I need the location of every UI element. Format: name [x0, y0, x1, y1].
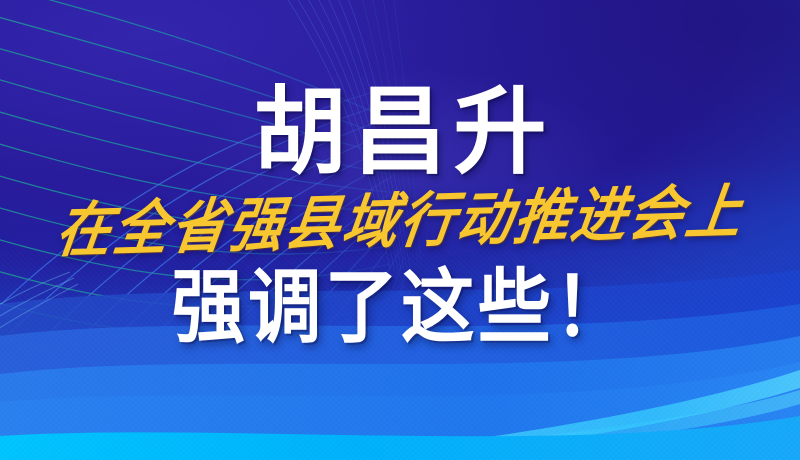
headline-subtitle: 在全省强县域行动推进会上: [53, 181, 748, 259]
headline-person-name: 胡昌升: [247, 85, 554, 180]
headline-block: 胡昌升 在全省强县域行动推进会上 强调了这些！: [0, 0, 800, 460]
news-banner: 胡昌升 在全省强县域行动推进会上 强调了这些！: [0, 0, 800, 460]
headline-emphasis: 强调了这些！: [169, 268, 631, 349]
